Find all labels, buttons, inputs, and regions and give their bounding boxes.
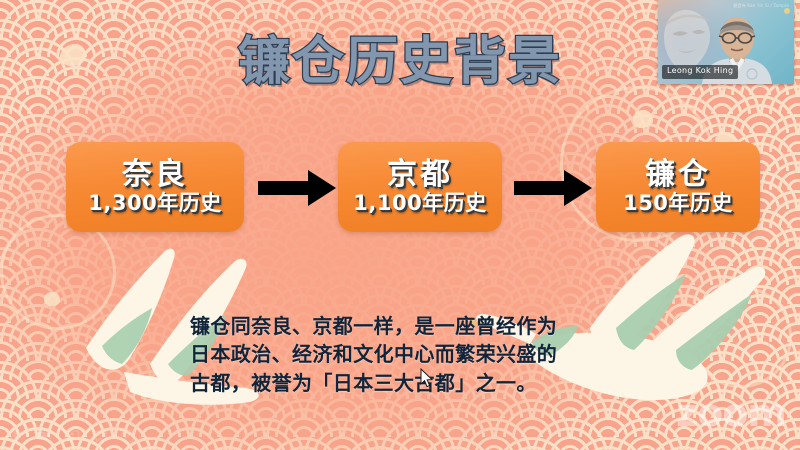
microphone-icon[interactable] — [8, 428, 24, 444]
flow-box-detail: 150年历史 — [623, 192, 733, 215]
body-line: 镰仓同奈良、京都一样，是一座曾经作为 — [190, 312, 660, 340]
video-corner-watermark: 観音寺 Kan Yin Si / Temple — [733, 3, 789, 8]
body-line: 日本政治、经济和文化中心而繁荣兴盛的 — [190, 340, 660, 368]
flow-box-detail: 1,300年历史 — [88, 192, 221, 215]
zoom-toolbar-ghost[interactable] — [8, 428, 136, 444]
zoom-watermark: zoom — [676, 394, 786, 432]
video-corner-dot — [784, 8, 790, 14]
flow-box-kamakura[interactable]: 镰仓 150年历史 — [596, 142, 760, 232]
presentation-slide: 镰仓历史背景 奈良 1,300年历史 京都 1,100年历史 镰仓 150年历史… — [0, 0, 800, 450]
blossom-icon — [44, 292, 60, 306]
video-camera-icon[interactable] — [36, 428, 52, 444]
zoom-video-tile[interactable]: 観音寺 Kan Yin Si / Temple Leong Kok Hing — [658, 0, 794, 84]
right-arrow-icon — [514, 170, 592, 206]
share-screen-icon[interactable] — [64, 428, 80, 444]
right-arrow-icon — [258, 170, 336, 206]
flow-box-kyoto[interactable]: 京都 1,100年历史 — [338, 142, 502, 232]
timeline-flow-row: 奈良 1,300年历史 京都 1,100年历史 镰仓 150年历史 — [0, 142, 800, 234]
flow-box-title: 京都 — [387, 159, 453, 191]
flow-box-title: 镰仓 — [645, 159, 711, 191]
participant-name-label: Leong Kok Hing — [662, 65, 738, 79]
mouse-pointer-icon — [420, 368, 434, 388]
chat-icon[interactable] — [92, 428, 108, 444]
flow-box-nara[interactable]: 奈良 1,300年历史 — [66, 142, 244, 232]
flow-box-title: 奈良 — [122, 159, 188, 191]
more-options-icon[interactable] — [120, 428, 136, 444]
blossom-icon — [633, 110, 653, 128]
flow-box-detail: 1,100年历史 — [353, 192, 486, 215]
